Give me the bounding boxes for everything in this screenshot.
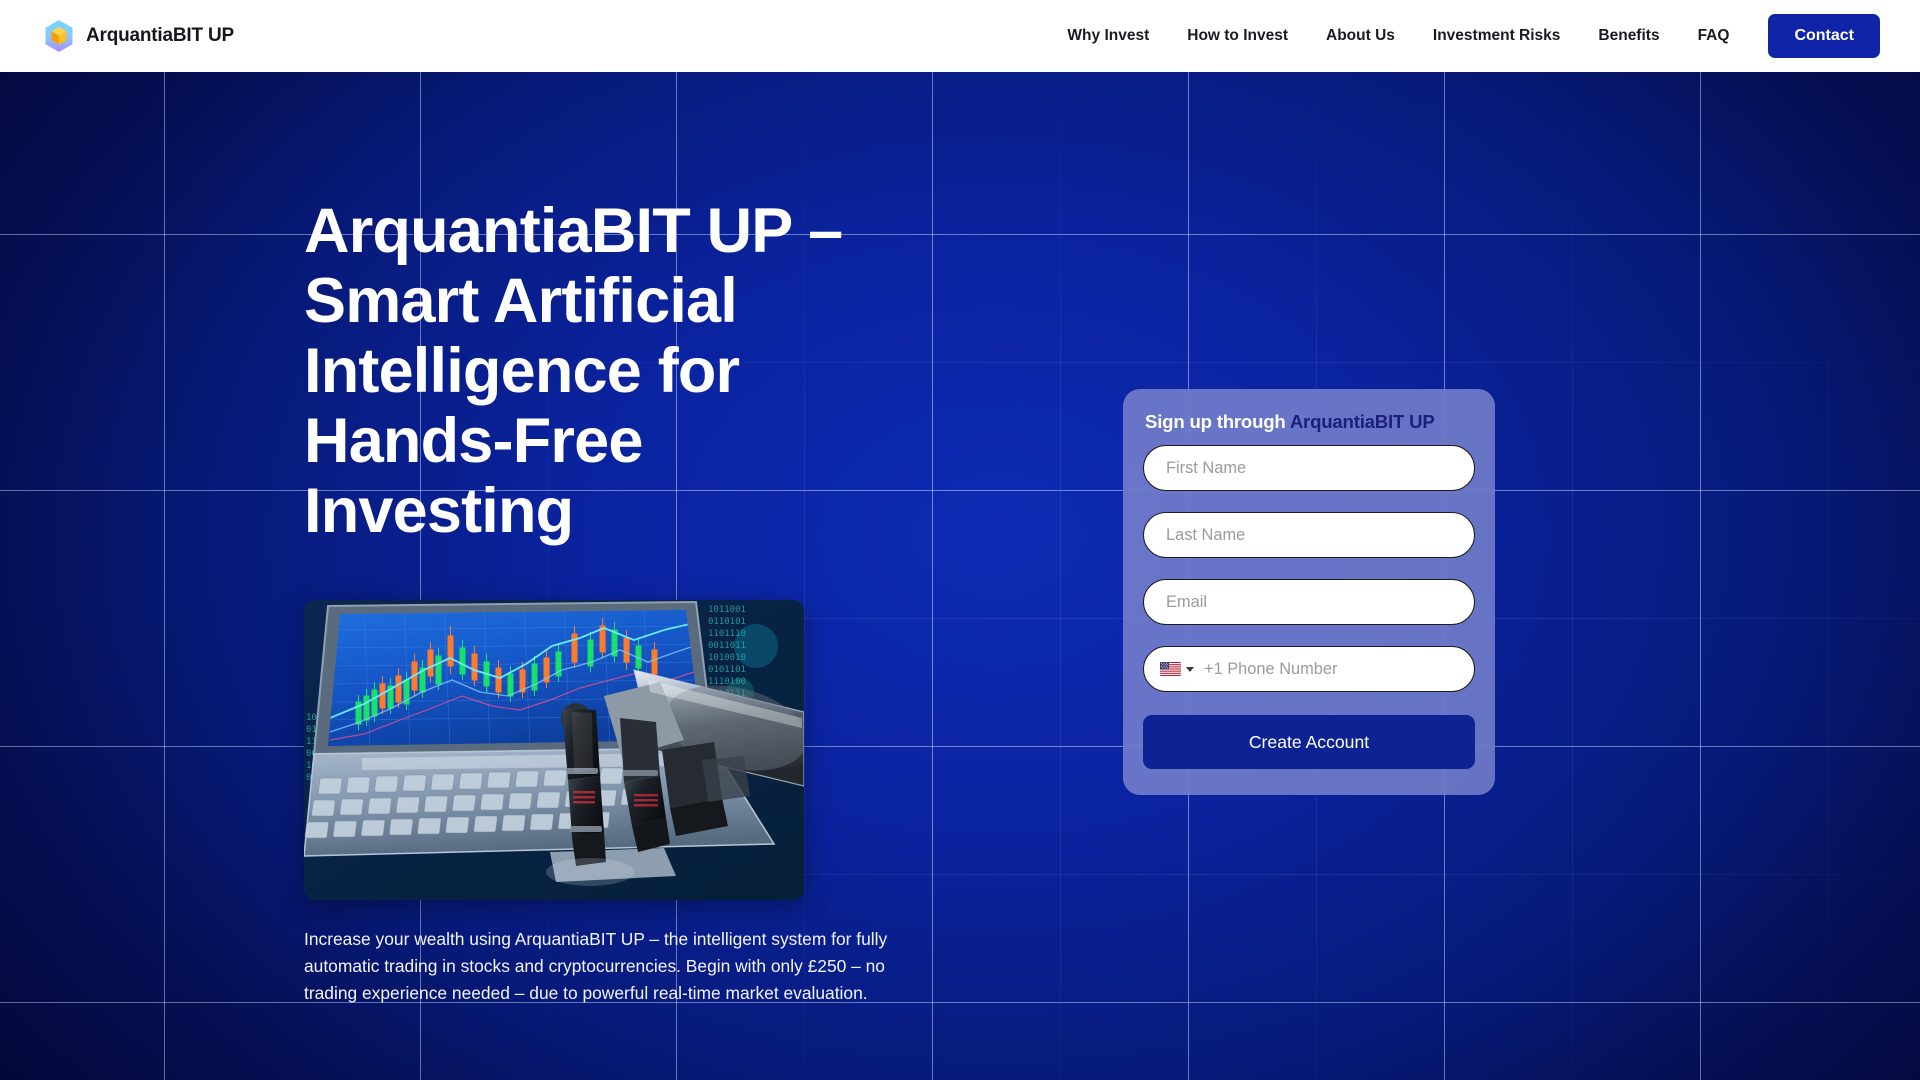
hero-left-column: ArquantiaBIT UP – Smart Artificial Intel… <box>304 196 944 1007</box>
create-account-button[interactable]: Create Account <box>1143 715 1475 769</box>
nav-item-why-invest[interactable]: Why Invest <box>1048 27 1168 45</box>
first-name-input[interactable] <box>1166 446 1452 490</box>
nav-item-faq[interactable]: FAQ <box>1679 27 1749 45</box>
signup-form-card: Sign up through ArquantiaBIT UP <box>1123 389 1495 795</box>
nav-item-investment-risks[interactable]: Investment Risks <box>1414 27 1580 45</box>
nav-item-benefits[interactable]: Benefits <box>1579 27 1678 45</box>
svg-text:0110101: 0110101 <box>708 617 746 627</box>
brand-name: ArquantiaBIT UP <box>86 25 234 47</box>
hero-section: ArquantiaBIT UP – Smart Artificial Intel… <box>0 72 1920 1080</box>
brand-logo-link[interactable]: ArquantiaBIT UP <box>44 19 234 53</box>
signup-heading: Sign up through ArquantiaBIT UP <box>1143 411 1475 433</box>
signup-heading-brand: ArquantiaBIT UP <box>1290 411 1435 432</box>
main-navigation: Why Invest How to Invest About Us Invest… <box>1048 14 1880 58</box>
svg-text:1011001: 1011001 <box>708 605 746 615</box>
last-name-field[interactable] <box>1143 512 1475 558</box>
nav-item-about-us[interactable]: About Us <box>1307 27 1414 45</box>
first-name-field[interactable] <box>1143 445 1475 491</box>
phone-input[interactable] <box>1204 647 1452 691</box>
svg-text:0101101: 0101101 <box>708 665 746 675</box>
hex-cube-icon <box>44 19 74 53</box>
site-header: ArquantiaBIT UP Why Invest How to Invest… <box>0 0 1920 72</box>
phone-field[interactable] <box>1143 646 1475 692</box>
hero-title: ArquantiaBIT UP – Smart Artificial Intel… <box>304 196 864 546</box>
robot-hand-typing-on-laptop-with-trading-chart: 10110010110101 11011100011011 1010010010… <box>304 600 804 900</box>
email-input[interactable] <box>1166 580 1452 624</box>
email-field[interactable] <box>1143 579 1475 625</box>
contact-button[interactable]: Contact <box>1768 14 1880 58</box>
nav-item-how-to-invest[interactable]: How to Invest <box>1168 27 1307 45</box>
us-flag-icon <box>1160 662 1181 676</box>
chevron-down-icon <box>1186 667 1194 672</box>
last-name-input[interactable] <box>1166 513 1452 557</box>
hero-paragraph: Increase your wealth using ArquantiaBIT … <box>304 926 916 1007</box>
signup-heading-prefix: Sign up through <box>1145 411 1290 432</box>
country-selector[interactable] <box>1160 662 1194 676</box>
